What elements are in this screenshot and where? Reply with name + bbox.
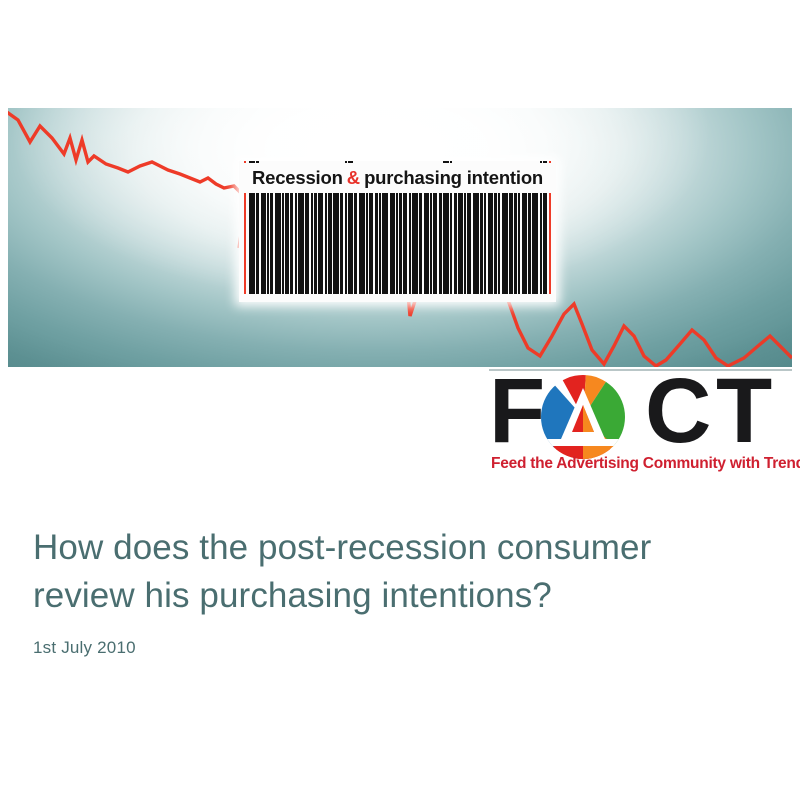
barcode-bar [409, 191, 411, 294]
barcode-bar [488, 191, 493, 294]
barcode-bar [399, 191, 402, 294]
barcode-bar [261, 191, 266, 294]
barcode-bar [298, 191, 304, 294]
barcode-bar [419, 191, 422, 294]
barcode-bar [328, 191, 332, 294]
barcode-bar [305, 191, 309, 294]
logo-tagline: Feed the Advertising Community with Tren… [491, 455, 791, 473]
barcode-bar [467, 191, 471, 294]
barcode-label: Recession & purchasing intention [239, 163, 556, 193]
barcode-bar [502, 191, 508, 294]
slide-date: 1st July 2010 [33, 638, 753, 658]
barcode-bar [494, 191, 497, 294]
barcode-bar [464, 191, 466, 294]
barcode-bar [454, 191, 457, 294]
title-block: How does the post-recession consumer rev… [33, 524, 753, 658]
trendline-left [8, 110, 246, 248]
barcode-bar [354, 191, 357, 294]
barcode-bar [473, 191, 479, 294]
fact-logo: F [489, 369, 792, 481]
barcode-bar [282, 191, 284, 294]
barcode-bar [439, 191, 442, 294]
barcode-bar [314, 191, 317, 294]
barcode-bar [522, 191, 527, 294]
logo-wordmark: F [489, 373, 792, 453]
barcode-bar [290, 191, 293, 294]
barcode-bar [382, 191, 388, 294]
barcode-label-ampersand: & [343, 167, 364, 189]
barcode-bar [340, 191, 343, 294]
barcode-bar [458, 191, 463, 294]
barcode-bar [518, 191, 520, 294]
barcode-label-prefix: Recession [252, 167, 343, 189]
logo-letter-c: C [645, 371, 708, 451]
barcode-bar [366, 191, 368, 294]
barcode-bar [295, 191, 297, 294]
barcode-bar [528, 191, 531, 294]
page-title-line-1: How does the post-recession consumer [33, 528, 651, 567]
barcode-bar [318, 191, 323, 294]
page-title-line-2: review his purchasing intentions? [33, 576, 552, 615]
barcode-bar [498, 191, 500, 294]
logo-disc-svg [541, 375, 625, 459]
barcode-bar [325, 191, 327, 294]
barcode-bar [267, 191, 269, 294]
logo-letter-t: T [716, 371, 769, 451]
page-title: How does the post-recession consumer rev… [33, 524, 753, 620]
barcode-bar [480, 191, 483, 294]
barcode-bar [369, 191, 373, 294]
barcode-bar [412, 191, 418, 294]
disc-baseline-gap [541, 439, 625, 446]
title-slide: Recession & purchasing intention F [0, 0, 800, 800]
logo-letter-a-disc [541, 375, 625, 459]
barcode-bar [390, 191, 395, 294]
barcode-bar [359, 191, 365, 294]
barcode-label-suffix: purchasing intention [364, 167, 543, 189]
barcode-bar [375, 191, 378, 294]
barcode-bar [311, 191, 313, 294]
barcode-bar [424, 191, 429, 294]
barcode-bar [514, 191, 517, 294]
barcode-bar [333, 191, 339, 294]
barcode-bar [509, 191, 513, 294]
barcode-bar [396, 191, 398, 294]
barcode-graphic: Recession & purchasing intention [239, 161, 556, 302]
barcode-bar [275, 191, 281, 294]
barcode-bar [379, 191, 381, 294]
logo-letter-f: F [489, 371, 542, 451]
barcode-bar [532, 191, 538, 294]
barcode-bar [433, 191, 437, 294]
barcode-bar [270, 191, 273, 294]
barcode-bar [285, 191, 289, 294]
barcode-bar [484, 191, 486, 294]
barcode-bar [430, 191, 432, 294]
barcode-bar [403, 191, 407, 294]
